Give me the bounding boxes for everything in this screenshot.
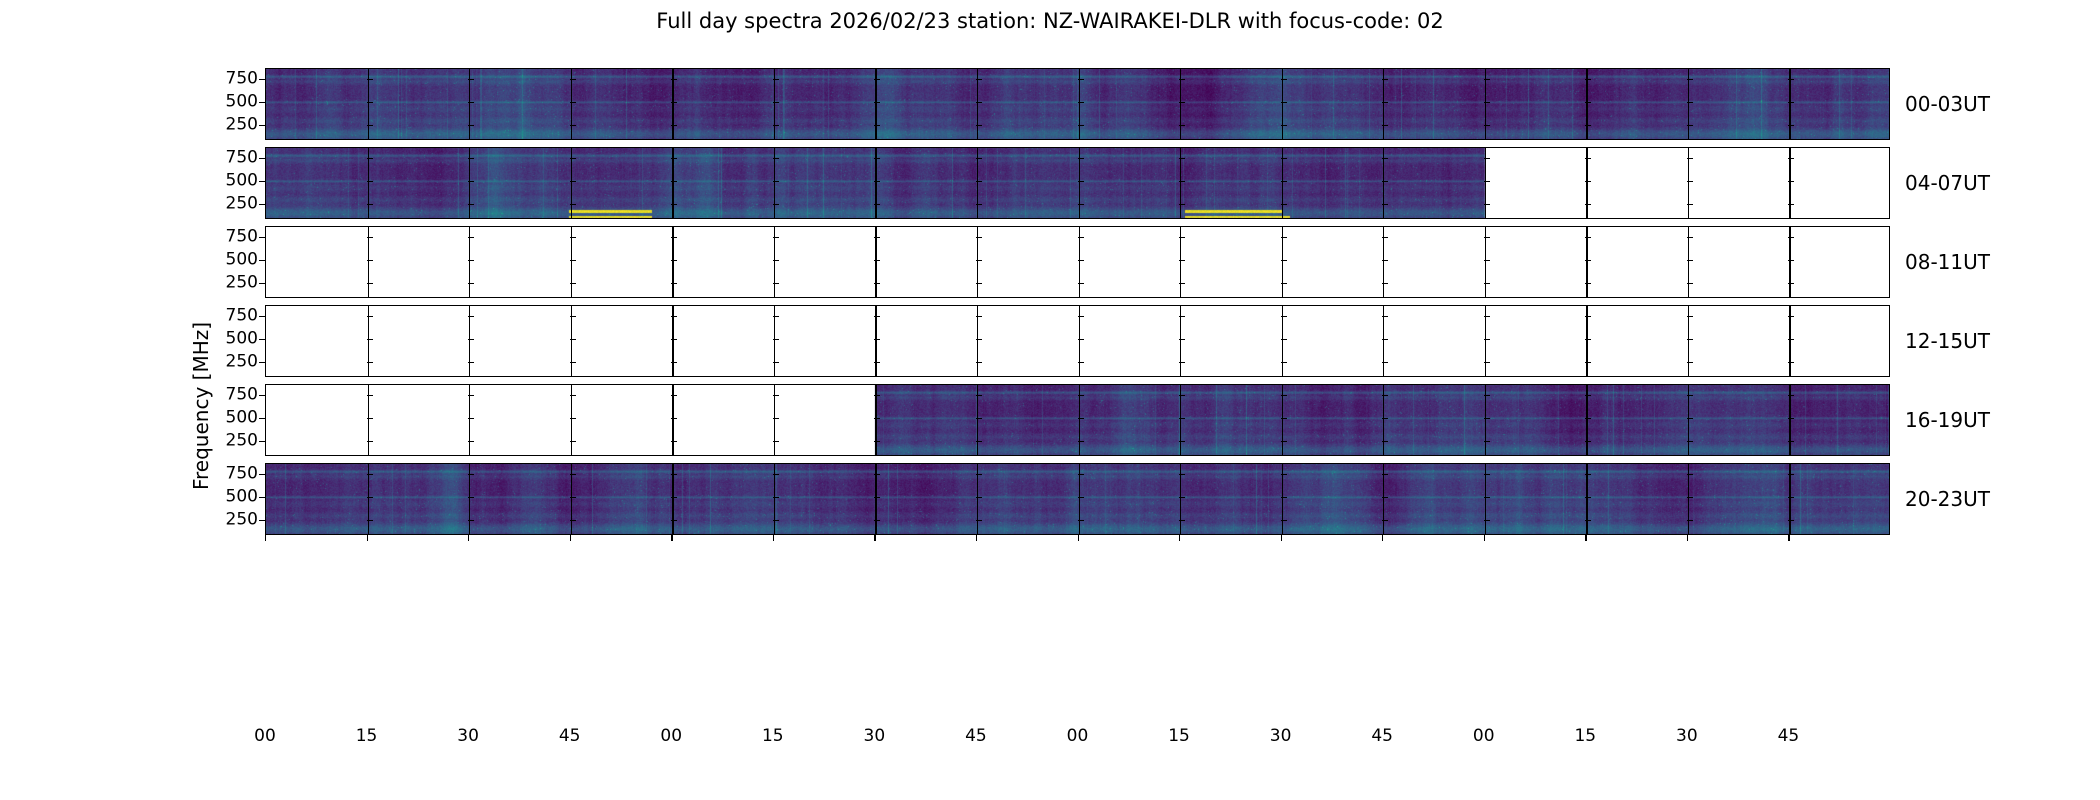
panel-y-tick-mark — [874, 520, 880, 521]
y-tick-mark — [259, 418, 265, 419]
panel-y-tick-mark — [468, 237, 474, 238]
panel-y-tick-mark — [468, 520, 474, 521]
panel-y-tick-mark — [1484, 474, 1490, 475]
y-tick-label: 750 — [226, 386, 258, 403]
panel-y-tick-mark — [1687, 125, 1693, 126]
panel-y-tick-mark — [874, 158, 880, 159]
panel-y-tick-mark — [1687, 158, 1693, 159]
panel-y-tick-mark — [367, 102, 373, 103]
panel-y-tick-mark — [570, 339, 576, 340]
panel-y-tick-mark — [1281, 520, 1287, 521]
panel-y-tick-mark — [1484, 260, 1490, 261]
panel-y-tick-mark — [468, 125, 474, 126]
panel-y-tick-mark — [367, 520, 373, 521]
panel-y-tick-mark — [1382, 418, 1388, 419]
panel-y-tick-mark — [874, 316, 880, 317]
panel-y-tick-mark — [874, 237, 880, 238]
panel-y-tick-mark — [468, 102, 474, 103]
panel-y-tick-mark — [1687, 418, 1693, 419]
panel-y-tick-mark — [773, 418, 779, 419]
x-tick-label: 00 — [660, 726, 682, 746]
panel-y-tick-mark — [570, 497, 576, 498]
panel-y-tick-mark — [468, 339, 474, 340]
spectrogram-figure: Full day spectra 2026/02/23 station: NZ-… — [0, 0, 2100, 800]
panel-y-tick-mark — [1281, 102, 1287, 103]
y-tick-label: 750 — [226, 307, 258, 324]
y-tick-mark — [259, 339, 265, 340]
panel-y-tick-mark — [1687, 441, 1693, 442]
y-tick-mark — [259, 102, 265, 103]
y-tick-mark — [259, 125, 265, 126]
panel-y-tick-mark — [1078, 125, 1084, 126]
panel-y-tick-mark — [1585, 237, 1591, 238]
panel-y-tick-mark — [773, 362, 779, 363]
panel-y-tick-mark — [874, 283, 880, 284]
y-tick-mark — [259, 497, 265, 498]
panel-y-tick-mark — [1078, 418, 1084, 419]
y-tick-mark — [259, 79, 265, 80]
panel-y-tick-mark — [1281, 237, 1287, 238]
panel-y-tick-mark — [773, 520, 779, 521]
panel-y-tick-mark — [367, 316, 373, 317]
panel-y-tick-mark — [671, 395, 677, 396]
panel-y-tick-mark — [1788, 520, 1794, 521]
panel-y-tick-mark — [1687, 283, 1693, 284]
panel-y-tick-mark — [773, 497, 779, 498]
panel-y-tick-mark — [1382, 260, 1388, 261]
panel-y-tick-mark — [1382, 125, 1388, 126]
panel-y-tick-mark — [570, 520, 576, 521]
panel-y-tick-mark — [1687, 181, 1693, 182]
panel-y-tick-mark — [468, 260, 474, 261]
panel-y-tick-mark — [1281, 474, 1287, 475]
panel-y-tick-mark — [671, 283, 677, 284]
panel-y-tick-mark — [1382, 237, 1388, 238]
panel-y-tick-mark — [1382, 339, 1388, 340]
row-time-label-12-15ut: 12-15UT — [1905, 329, 1990, 353]
panel-y-tick-mark — [1788, 441, 1794, 442]
y-tick-label: 750 — [226, 465, 258, 482]
panel-y-tick-mark — [773, 260, 779, 261]
row-time-label-00-03ut: 00-03UT — [1905, 92, 1990, 116]
panel-y-tick-mark — [1078, 520, 1084, 521]
panel-y-tick-mark — [1078, 441, 1084, 442]
y-tick-mark — [259, 204, 265, 205]
panel-y-tick-mark — [570, 395, 576, 396]
panel-y-tick-mark — [570, 474, 576, 475]
y-tick-mark — [259, 158, 265, 159]
spectrogram-row-16-19ut: 750500250 — [265, 384, 1890, 456]
panel-y-tick-mark — [468, 441, 474, 442]
panel-y-tick-mark — [1585, 395, 1591, 396]
row-time-label-20-23ut: 20-23UT — [1905, 487, 1990, 511]
panel-y-tick-mark — [874, 79, 880, 80]
panel-y-tick-mark — [1484, 441, 1490, 442]
panel-y-tick-mark — [773, 441, 779, 442]
x-tick-mark — [976, 535, 977, 541]
panel-y-tick-mark — [1484, 158, 1490, 159]
x-tick-mark — [265, 535, 266, 541]
panel-y-tick-mark — [1585, 204, 1591, 205]
panel-y-tick-mark — [570, 204, 576, 205]
panel-y-tick-mark — [1687, 339, 1693, 340]
panel-y-tick-mark — [1687, 497, 1693, 498]
x-tick-mark — [1585, 535, 1586, 541]
panel-y-tick-mark — [468, 395, 474, 396]
panel-y-tick-mark — [1382, 497, 1388, 498]
panel-y-tick-mark — [570, 158, 576, 159]
panel-y-tick-mark — [1078, 497, 1084, 498]
panel-y-tick-mark — [976, 520, 982, 521]
x-tick-mark — [1484, 535, 1485, 541]
panel-y-tick-mark — [468, 181, 474, 182]
panel-y-tick-mark — [1788, 204, 1794, 205]
panel-y-tick-mark — [1788, 474, 1794, 475]
panel-y-tick-mark — [367, 362, 373, 363]
y-tick-mark — [259, 520, 265, 521]
panel-y-tick-mark — [1585, 441, 1591, 442]
panel-y-tick-mark — [468, 79, 474, 80]
panel-y-tick-mark — [1382, 316, 1388, 317]
panel-y-tick-mark — [570, 181, 576, 182]
row-time-label-16-19ut: 16-19UT — [1905, 408, 1990, 432]
panel-y-tick-mark — [1687, 260, 1693, 261]
x-tick-mark — [468, 535, 469, 541]
panel-y-tick-mark — [1281, 158, 1287, 159]
x-tick-label: 00 — [1473, 726, 1495, 746]
panel-y-tick-mark — [468, 316, 474, 317]
panel-y-tick-mark — [874, 497, 880, 498]
panel-y-tick-mark — [1484, 283, 1490, 284]
panel-y-tick-mark — [1484, 497, 1490, 498]
panel-y-tick-mark — [773, 102, 779, 103]
x-tick-label: 15 — [356, 726, 378, 746]
panel-y-tick-mark — [1585, 362, 1591, 363]
x-tick-mark — [671, 535, 672, 541]
panel-y-tick-mark — [1788, 125, 1794, 126]
panel-y-tick-mark — [367, 158, 373, 159]
panel-y-tick-mark — [468, 497, 474, 498]
y-tick-label: 250 — [226, 274, 258, 291]
panel-y-tick-mark — [1687, 204, 1693, 205]
panel-y-tick-mark — [1179, 181, 1185, 182]
panel-y-tick-mark — [1788, 102, 1794, 103]
panel-y-tick-mark — [1687, 79, 1693, 80]
panel-y-tick-mark — [976, 125, 982, 126]
panel-y-tick-mark — [1382, 474, 1388, 475]
y-tick-mark — [259, 237, 265, 238]
panel-y-tick-mark — [1281, 418, 1287, 419]
panel-y-tick-mark — [1484, 102, 1490, 103]
panel-y-tick-mark — [773, 316, 779, 317]
x-tick-mark — [1788, 535, 1789, 541]
x-tick-label: 45 — [1778, 726, 1800, 746]
y-tick-label: 500 — [226, 251, 258, 268]
y-tick-label: 250 — [226, 195, 258, 212]
panel-y-tick-mark — [773, 79, 779, 80]
panel-y-tick-mark — [1382, 362, 1388, 363]
panel-y-tick-mark — [1585, 283, 1591, 284]
panel-y-tick-mark — [976, 181, 982, 182]
x-tick-label: 45 — [965, 726, 987, 746]
panel-y-tick-mark — [1281, 283, 1287, 284]
y-tick-label: 500 — [226, 409, 258, 426]
panel-y-tick-mark — [976, 260, 982, 261]
panel-y-tick-mark — [976, 102, 982, 103]
panel-y-tick-mark — [1281, 441, 1287, 442]
panel-y-tick-mark — [468, 158, 474, 159]
y-tick-label: 250 — [226, 116, 258, 133]
panel-y-tick-mark — [874, 441, 880, 442]
spectrogram-row-00-03ut: 750500250 — [265, 68, 1890, 140]
y-tick-label: 500 — [226, 172, 258, 189]
spectrogram-row-12-15ut: 750500250 — [265, 305, 1890, 377]
panel-y-tick-mark — [1484, 237, 1490, 238]
panel-y-tick-mark — [671, 441, 677, 442]
panel-y-tick-mark — [570, 125, 576, 126]
panel-y-tick-mark — [1078, 158, 1084, 159]
panel-y-tick-mark — [671, 125, 677, 126]
panel-y-tick-mark — [671, 362, 677, 363]
panel-y-tick-mark — [367, 181, 373, 182]
x-tick-mark — [1281, 535, 1282, 541]
panel-y-tick-mark — [671, 497, 677, 498]
panel-y-tick-mark — [1078, 79, 1084, 80]
panel-y-tick-mark — [1179, 125, 1185, 126]
panel-y-tick-mark — [468, 418, 474, 419]
panel-y-tick-mark — [1687, 362, 1693, 363]
panel-y-tick-mark — [874, 474, 880, 475]
panel-y-tick-mark — [1484, 520, 1490, 521]
panel-y-tick-mark — [1788, 395, 1794, 396]
panel-y-tick-mark — [570, 283, 576, 284]
panel-y-tick-mark — [976, 237, 982, 238]
panel-y-tick-mark — [976, 395, 982, 396]
panel-y-tick-mark — [1281, 260, 1287, 261]
panel-y-tick-mark — [976, 158, 982, 159]
panel-y-tick-mark — [1382, 102, 1388, 103]
x-tick-label: 15 — [1574, 726, 1596, 746]
panel-y-tick-mark — [1788, 260, 1794, 261]
panel-y-tick-mark — [1585, 339, 1591, 340]
y-tick-label: 750 — [226, 149, 258, 166]
row-time-label-04-07ut: 04-07UT — [1905, 171, 1990, 195]
panel-y-tick-mark — [976, 497, 982, 498]
panel-y-tick-mark — [1179, 237, 1185, 238]
y-tick-mark — [259, 395, 265, 396]
x-tick-mark — [367, 535, 368, 541]
panel-y-tick-mark — [1484, 181, 1490, 182]
panel-y-tick-mark — [367, 204, 373, 205]
panel-y-tick-mark — [1788, 181, 1794, 182]
panel-y-tick-mark — [1788, 339, 1794, 340]
y-tick-label: 250 — [226, 511, 258, 528]
panel-y-tick-mark — [367, 125, 373, 126]
panel-y-tick-mark — [1281, 125, 1287, 126]
x-tick-mark — [1179, 535, 1180, 541]
panel-y-tick-mark — [773, 474, 779, 475]
panel-y-tick-mark — [1078, 474, 1084, 475]
panel-y-tick-mark — [671, 520, 677, 521]
panel-y-tick-mark — [570, 316, 576, 317]
y-tick-mark — [259, 441, 265, 442]
panel-y-tick-mark — [874, 395, 880, 396]
panel-y-tick-mark — [367, 339, 373, 340]
panel-y-tick-mark — [1382, 395, 1388, 396]
panel-y-tick-mark — [1687, 395, 1693, 396]
y-tick-label: 750 — [226, 228, 258, 245]
panel-y-tick-mark — [570, 418, 576, 419]
panel-y-tick-mark — [1382, 283, 1388, 284]
panel-y-tick-mark — [1585, 260, 1591, 261]
panel-y-tick-mark — [570, 79, 576, 80]
panel-y-tick-mark — [1585, 316, 1591, 317]
panel-y-tick-mark — [367, 395, 373, 396]
panel-y-tick-mark — [468, 283, 474, 284]
panel-y-tick-mark — [570, 362, 576, 363]
panel-y-tick-mark — [1788, 79, 1794, 80]
panel-y-tick-mark — [1484, 204, 1490, 205]
panel-y-tick-mark — [1179, 158, 1185, 159]
panel-y-tick-mark — [1687, 102, 1693, 103]
x-tick-mark — [1687, 535, 1688, 541]
panel-y-tick-mark — [773, 204, 779, 205]
panel-y-tick-mark — [976, 339, 982, 340]
panel-y-tick-mark — [1585, 158, 1591, 159]
panel-y-tick-mark — [671, 474, 677, 475]
panel-y-tick-mark — [1585, 102, 1591, 103]
panel-y-tick-mark — [1788, 158, 1794, 159]
panel-y-tick-mark — [1788, 283, 1794, 284]
x-tick-label: 30 — [864, 726, 886, 746]
row-time-label-08-11ut: 08-11UT — [1905, 250, 1990, 274]
panel-y-tick-mark — [1484, 339, 1490, 340]
panel-y-tick-mark — [1788, 497, 1794, 498]
panel-y-tick-mark — [874, 362, 880, 363]
panel-y-tick-mark — [1179, 79, 1185, 80]
panel-y-tick-mark — [1382, 158, 1388, 159]
x-tick-label: 15 — [1168, 726, 1190, 746]
y-tick-mark — [259, 316, 265, 317]
panel-y-tick-mark — [874, 125, 880, 126]
panel-y-tick-mark — [1382, 441, 1388, 442]
panel-y-tick-mark — [570, 441, 576, 442]
panel-y-tick-mark — [1179, 283, 1185, 284]
x-tick-label: 45 — [559, 726, 581, 746]
x-tick-label: 30 — [1270, 726, 1292, 746]
panel-y-tick-mark — [671, 158, 677, 159]
panel-y-tick-mark — [468, 474, 474, 475]
panel-y-tick-mark — [773, 283, 779, 284]
panel-y-tick-mark — [1585, 474, 1591, 475]
panel-y-tick-mark — [1687, 520, 1693, 521]
x-tick-label: 45 — [1371, 726, 1393, 746]
panel-y-tick-mark — [976, 418, 982, 419]
panel-y-tick-mark — [1281, 395, 1287, 396]
panel-y-tick-mark — [367, 497, 373, 498]
x-tick-mark — [1382, 535, 1383, 541]
y-tick-label: 500 — [226, 488, 258, 505]
panel-y-tick-mark — [1585, 125, 1591, 126]
panel-y-tick-mark — [671, 260, 677, 261]
panel-y-tick-mark — [468, 362, 474, 363]
panel-y-tick-mark — [1788, 362, 1794, 363]
y-tick-label: 500 — [226, 330, 258, 347]
panel-y-tick-mark — [1281, 339, 1287, 340]
panel-y-tick-mark — [1078, 339, 1084, 340]
panel-y-tick-mark — [1484, 418, 1490, 419]
panel-y-tick-mark — [874, 102, 880, 103]
panel-y-tick-mark — [671, 79, 677, 80]
panel-y-tick-mark — [1281, 497, 1287, 498]
panel-y-tick-mark — [773, 237, 779, 238]
panel-y-tick-mark — [1382, 520, 1388, 521]
panel-y-tick-mark — [976, 441, 982, 442]
panel-y-tick-mark — [773, 395, 779, 396]
panel-y-tick-mark — [1382, 181, 1388, 182]
panel-y-tick-mark — [1585, 418, 1591, 419]
panel-y-tick-mark — [1179, 497, 1185, 498]
panel-y-tick-mark — [468, 204, 474, 205]
panel-y-tick-mark — [1281, 79, 1287, 80]
panel-y-tick-mark — [874, 204, 880, 205]
panel-y-tick-mark — [1179, 362, 1185, 363]
panel-y-tick-mark — [773, 181, 779, 182]
y-tick-label: 750 — [226, 70, 258, 87]
y-tick-mark — [259, 260, 265, 261]
panel-y-tick-mark — [671, 204, 677, 205]
x-tick-mark — [1078, 535, 1079, 541]
y-tick-mark — [259, 181, 265, 182]
panel-y-tick-mark — [1585, 181, 1591, 182]
panel-y-tick-mark — [1078, 204, 1084, 205]
panel-y-tick-mark — [1179, 395, 1185, 396]
y-tick-label: 250 — [226, 353, 258, 370]
spectrogram-row-08-11ut: 750500250 — [265, 226, 1890, 298]
panel-y-tick-mark — [1281, 204, 1287, 205]
x-tick-label: 00 — [1067, 726, 1089, 746]
panel-y-tick-mark — [1078, 316, 1084, 317]
panel-y-tick-mark — [1484, 79, 1490, 80]
panel-y-tick-mark — [1078, 283, 1084, 284]
x-tick-label: 15 — [762, 726, 784, 746]
x-tick-label: 30 — [457, 726, 479, 746]
panel-y-tick-mark — [1078, 395, 1084, 396]
panel-y-tick-mark — [1078, 181, 1084, 182]
panel-y-tick-mark — [570, 260, 576, 261]
panel-y-tick-mark — [671, 102, 677, 103]
spectrogram-row-04-07ut: 750500250 — [265, 147, 1890, 219]
panel-y-tick-mark — [367, 474, 373, 475]
panel-y-tick-mark — [1687, 316, 1693, 317]
panel-y-tick-mark — [1179, 441, 1185, 442]
panel-y-tick-mark — [1078, 237, 1084, 238]
panel-y-tick-mark — [1788, 418, 1794, 419]
panel-y-tick-mark — [570, 102, 576, 103]
panel-y-tick-mark — [367, 260, 373, 261]
panel-y-tick-mark — [1687, 237, 1693, 238]
x-tick-mark — [773, 535, 774, 541]
panel-y-tick-mark — [367, 441, 373, 442]
panel-y-tick-mark — [1078, 260, 1084, 261]
y-tick-mark — [259, 474, 265, 475]
panel-y-tick-mark — [976, 283, 982, 284]
panel-y-tick-mark — [1382, 79, 1388, 80]
panel-y-tick-mark — [1788, 316, 1794, 317]
panel-y-tick-mark — [1281, 316, 1287, 317]
y-tick-mark — [259, 283, 265, 284]
panel-y-tick-mark — [1484, 362, 1490, 363]
